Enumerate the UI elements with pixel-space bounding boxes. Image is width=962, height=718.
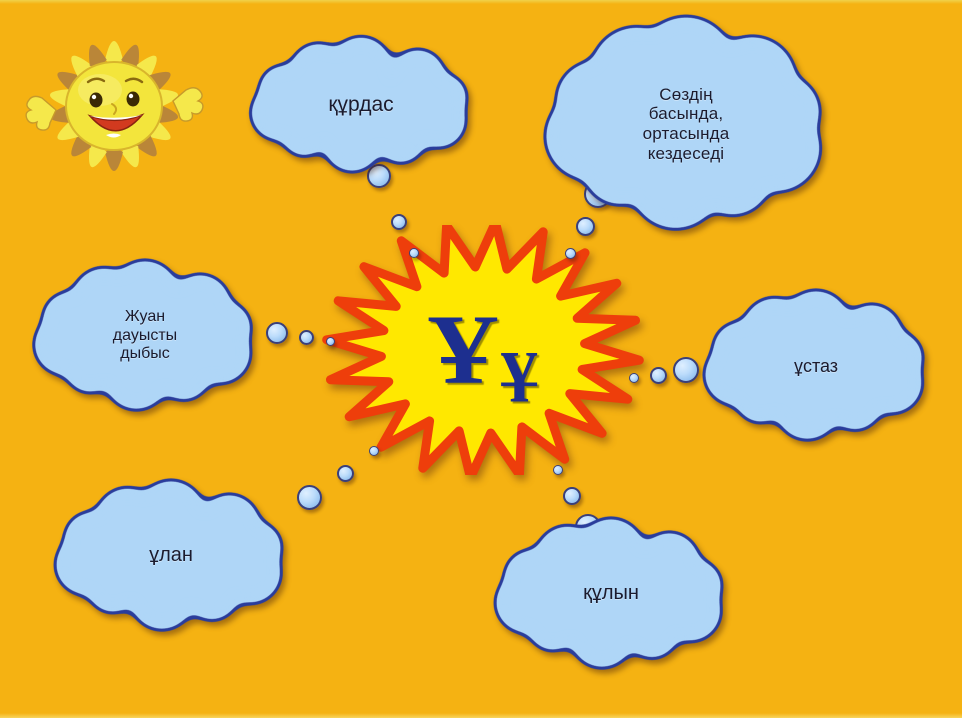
connector-dot (337, 465, 354, 482)
connector-dot (553, 465, 563, 475)
cloud-ustaz[interactable]: ұстаз (702, 302, 930, 430)
smiling-sun-icon (14, 16, 214, 191)
cloud-ulan[interactable]: ұлан (52, 492, 290, 620)
top-edge-strip (0, 0, 962, 4)
cloud-kulyn[interactable]: құлын (492, 530, 730, 658)
cloud-kurdas[interactable]: құрдас (245, 46, 477, 164)
connector-dot (409, 248, 419, 258)
diagram-canvas: Ұ ұ құрдас Сөздің басында, ортасында кез… (0, 0, 962, 718)
bottom-edge-strip (0, 713, 962, 718)
connector-dot (565, 248, 576, 259)
connector-dot (576, 217, 595, 236)
connector-dot (629, 373, 639, 383)
connector-dot (297, 485, 322, 510)
connector-dot (650, 367, 667, 384)
connector-dot (391, 214, 407, 230)
connector-dot (563, 487, 581, 505)
connector-dot (266, 322, 288, 344)
center-star: Ұ ұ (318, 225, 648, 475)
connector-dot (369, 446, 379, 456)
cloud-sozdin[interactable]: Сөздің басында, ортасында кездеседі (552, 38, 820, 210)
connector-dot (673, 357, 699, 383)
cloud-zhuan-dauysty-dybys[interactable]: Жуан дауысты дыбыс (32, 272, 258, 400)
connector-dot (299, 330, 314, 345)
connector-dot (326, 337, 335, 346)
